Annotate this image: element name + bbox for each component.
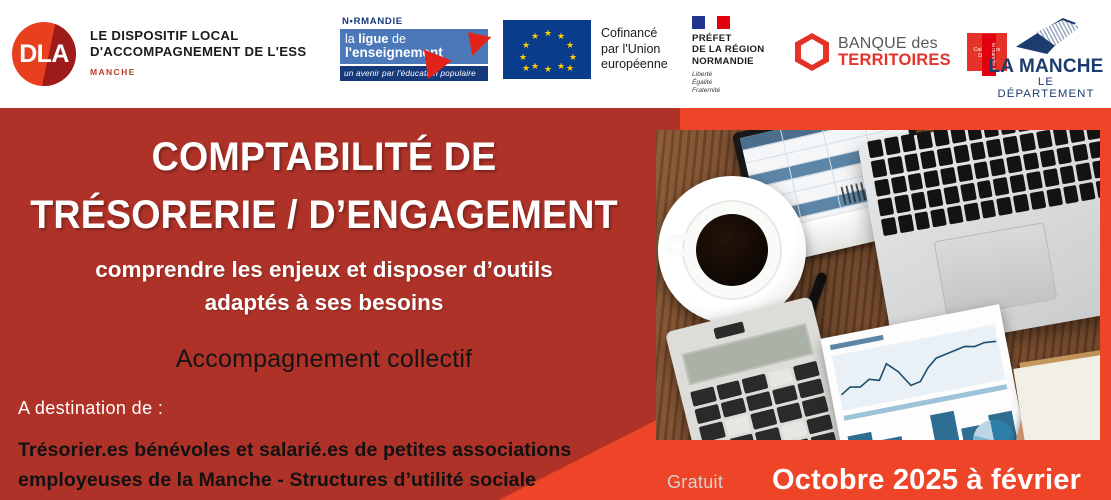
line-chart bbox=[832, 324, 1006, 411]
poster: DLA LE DISPOSITIF LOCAL D'ACCOMPAGNEMENT… bbox=[0, 0, 1111, 500]
dla-circle-mark: DLA bbox=[12, 22, 76, 86]
eu-caption-line-2: par l'Union bbox=[601, 42, 668, 58]
partner-logo-strip: DLA LE DISPOSITIF LOCAL D'ACCOMPAGNEMENT… bbox=[0, 0, 1111, 108]
price-label: Gratuit bbox=[667, 472, 723, 493]
dates-label: Octobre 2025 à février 2026 bbox=[772, 464, 1111, 500]
format-label: Accompagnement collectif bbox=[0, 345, 648, 374]
eu-caption-line-3: européenne bbox=[601, 57, 668, 73]
laptop-keyboard bbox=[867, 130, 1100, 236]
subtitle-line-2: adaptés à ses besoins bbox=[0, 286, 648, 319]
dla-line-1: LE DISPOSITIF LOCAL bbox=[90, 28, 306, 44]
bdt-des: des bbox=[907, 35, 938, 52]
line-chart-svg bbox=[832, 324, 1006, 411]
dla-line-2: D'ACCOMPAGNEMENT DE L'ESS bbox=[90, 44, 306, 60]
audience-line-1: Trésorier.es bénévoles et salarié.es de … bbox=[18, 435, 648, 465]
subtitle-line-1: comprendre les enjeux et disposer d’outi… bbox=[0, 253, 648, 286]
ligue-de: de bbox=[389, 32, 406, 46]
page-title-line-1: COMPTABILITÉ DE bbox=[19, 128, 628, 186]
footer-row: Gratuit Octobre 2025 à février 2026 bbox=[0, 466, 1111, 500]
logo-la-manche-departement: la manche.fr LA MANCHE LE DÉPARTEMENT bbox=[988, 18, 1104, 94]
bdt-banque: BANQUE bbox=[838, 35, 907, 52]
logo-prefet-region-normandie: PRÉFET DE LA RÉGION NORMANDIE Liberté Ég… bbox=[692, 16, 778, 94]
manche-line-1: LA MANCHE bbox=[988, 56, 1104, 78]
prefet-line-1: PRÉFET bbox=[692, 33, 778, 44]
prefet-line-2: DE LA RÉGION bbox=[692, 44, 778, 55]
logo-dla: DLA LE DISPOSITIF LOCAL D'ACCOMPAGNEMENT… bbox=[12, 18, 322, 90]
ligue-ligue: ligue bbox=[358, 31, 388, 46]
eu-flag-icon: ★ ★ ★ ★ ★ ★ ★ ★ ★ ★ ★ ★ bbox=[503, 20, 591, 79]
calculator-solar-panel bbox=[713, 321, 745, 339]
manche-line-2: LE DÉPARTEMENT bbox=[988, 76, 1104, 100]
logo-european-union: ★ ★ ★ ★ ★ ★ ★ ★ ★ ★ ★ ★ Cofinancé par l'… bbox=[503, 20, 683, 84]
ligue-la: la bbox=[345, 32, 358, 46]
audience-lead: A destination de : bbox=[18, 398, 648, 419]
bdt-line-2: TERRITOIRES bbox=[838, 52, 951, 69]
ligue-title-row-2: l'enseignement bbox=[345, 46, 483, 60]
hexagon-icon bbox=[795, 33, 829, 71]
title-block: COMPTABILITÉ DE TRÉSORERIE / D’ENGAGEMEN… bbox=[0, 128, 648, 244]
ligue-title-row-1: la ligue de bbox=[345, 32, 483, 46]
prefet-line-3: NORMANDIE bbox=[692, 56, 778, 67]
page-title-line-2: TRÉSORERIE / D’ENGAGEMENT bbox=[19, 186, 628, 244]
motto-egalite: Égalité bbox=[692, 79, 778, 87]
black-coffee bbox=[696, 214, 768, 286]
red-arrow-icon bbox=[468, 28, 494, 55]
prefet-motto: Liberté Égalité Fraternité bbox=[692, 71, 778, 95]
bdt-line-1: BANQUE des bbox=[838, 35, 951, 52]
dla-sublabel: MANCHE bbox=[90, 67, 306, 77]
dla-acronym: DLA bbox=[12, 22, 76, 86]
cup-handle bbox=[664, 234, 690, 256]
bdt-wordmark: BANQUE des TERRITOIRES bbox=[838, 35, 951, 69]
eu-caption-line-1: Cofinancé bbox=[601, 26, 668, 42]
eu-caption: Cofinancé par l'Union européenne bbox=[601, 26, 668, 73]
subtitle-block: comprendre les enjeux et disposer d’outi… bbox=[0, 253, 648, 319]
logo-banque-des-territoires: BANQUE des TERRITOIRES Caisse des Dépôts bbox=[795, 26, 985, 78]
main-banner: COMPTABILITÉ DE TRÉSORERIE / D’ENGAGEMEN… bbox=[0, 108, 1111, 500]
desk-photo bbox=[656, 130, 1100, 440]
motto-fraternite: Fraternité bbox=[692, 87, 778, 95]
french-flag-icon bbox=[692, 16, 730, 29]
ligue-region-label: N•RMANDIE bbox=[340, 16, 488, 27]
logo-ligue-enseignement: N•RMANDIE la ligue de l'enseignement un … bbox=[340, 16, 488, 92]
ligue-title-box: la ligue de l'enseignement bbox=[340, 29, 488, 64]
dla-wordmark: LE DISPOSITIF LOCAL D'ACCOMPAGNEMENT DE … bbox=[90, 28, 306, 77]
